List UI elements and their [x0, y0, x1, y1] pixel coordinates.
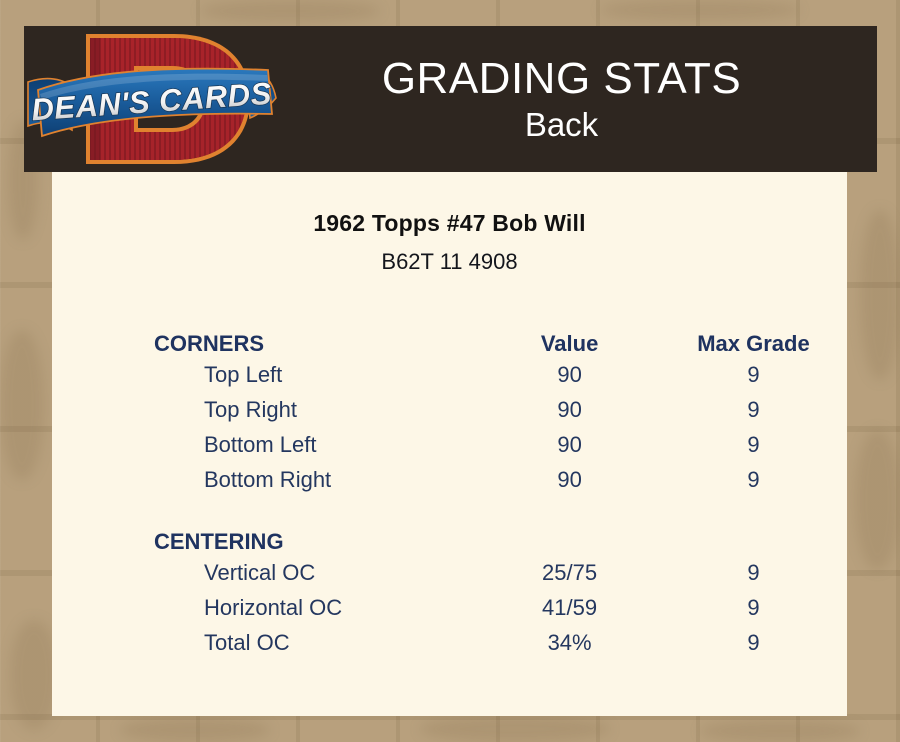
table-row: Top Left 90 9	[52, 357, 847, 392]
row-max-grade: 9	[660, 590, 847, 625]
row-label: Bottom Right	[52, 462, 479, 497]
row-value: 90	[479, 427, 660, 462]
page-subtitle: Back	[270, 105, 853, 145]
row-max-grade: 9	[660, 555, 847, 590]
row-label: Horizontal OC	[52, 590, 479, 625]
column-header-max-grade: Max Grade	[660, 317, 847, 357]
table-row: Horizontal OC 41/59 9	[52, 590, 847, 625]
row-label: Top Right	[52, 392, 479, 427]
row-max-grade: 9	[660, 625, 847, 660]
row-max-grade: 9	[660, 392, 847, 427]
row-max-grade: 9	[660, 462, 847, 497]
table-row: Vertical OC 25/75 9	[52, 555, 847, 590]
row-label: Top Left	[52, 357, 479, 392]
section-spacer	[52, 497, 847, 515]
section-title-corners: CORNERS	[52, 317, 479, 357]
header-band: DEAN'S CARDS GRADING STATS Back	[24, 26, 877, 172]
section-header-centering: CENTERING	[52, 515, 847, 555]
page-title: GRADING STATS	[270, 53, 853, 105]
grading-stats-page: DEAN'S CARDS GRADING STATS Back 1962 Top…	[0, 0, 900, 742]
section-header-corners: CORNERS Value Max Grade	[52, 317, 847, 357]
section-grade-spacer	[660, 515, 847, 555]
content-panel: 1962 Topps #47 Bob Will B62T 11 4908 COR…	[52, 172, 847, 716]
column-header-value: Value	[479, 317, 660, 357]
card-title: 1962 Topps #47 Bob Will	[52, 210, 847, 237]
table-row: Bottom Left 90 9	[52, 427, 847, 462]
row-value: 90	[479, 357, 660, 392]
grading-stats-table: CORNERS Value Max Grade Top Left 90 9 To…	[52, 317, 847, 660]
row-value: 25/75	[479, 555, 660, 590]
row-max-grade: 9	[660, 427, 847, 462]
section-title-centering: CENTERING	[52, 515, 479, 555]
table-row: Top Right 90 9	[52, 392, 847, 427]
row-max-grade: 9	[660, 357, 847, 392]
card-code: B62T 11 4908	[52, 249, 847, 275]
table-row: Bottom Right 90 9	[52, 462, 847, 497]
row-value: 90	[479, 462, 660, 497]
row-label: Vertical OC	[52, 555, 479, 590]
row-label: Bottom Left	[52, 427, 479, 462]
section-value-spacer	[479, 515, 660, 555]
row-value: 90	[479, 392, 660, 427]
header-titles: GRADING STATS Back	[270, 53, 877, 145]
table-row: Total OC 34% 9	[52, 625, 847, 660]
row-value: 34%	[479, 625, 660, 660]
row-value: 41/59	[479, 590, 660, 625]
deans-cards-logo[interactable]: DEAN'S CARDS	[24, 26, 280, 172]
row-label: Total OC	[52, 625, 479, 660]
